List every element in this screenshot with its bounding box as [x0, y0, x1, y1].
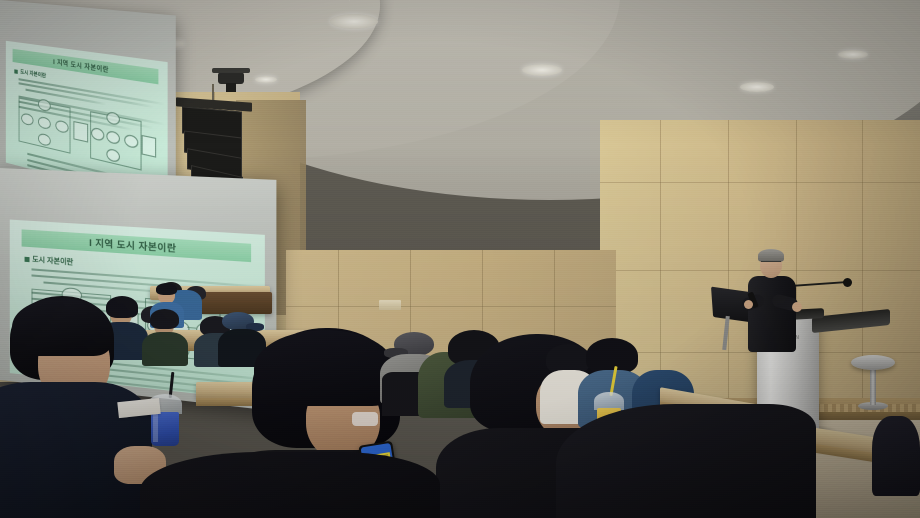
downlight-icon: [740, 82, 774, 92]
audience-member-foreground-bottom: [140, 452, 440, 518]
blue-iced-drink: [148, 388, 182, 450]
presenter-torso: [748, 276, 796, 352]
presenter-right-hand: [792, 302, 802, 312]
downlight-icon: [330, 14, 378, 29]
face-mask: [352, 412, 378, 426]
bullet-square-icon: [14, 69, 17, 74]
ceiling-projector-icon: [218, 72, 244, 84]
downlight-icon: [255, 76, 277, 83]
mic-capsule-icon: [843, 278, 852, 287]
desk-row-far: [196, 292, 272, 314]
presenter-glasses-icon: [761, 261, 781, 266]
presenter-left-hand: [744, 300, 753, 309]
audience-member-foreground-right: [556, 404, 816, 518]
presenter: [742, 252, 802, 362]
lecture-hall-scene: I 지역 도시 자본이란 도시 자본이란: [0, 0, 920, 518]
downlight-icon: [522, 64, 562, 76]
wall-sign: [379, 300, 401, 310]
stage-stool: [851, 355, 895, 369]
stool-seat: [851, 355, 895, 370]
stool-pole: [870, 367, 876, 405]
bullet-square-icon: [24, 257, 29, 262]
downlight-icon: [838, 50, 868, 59]
